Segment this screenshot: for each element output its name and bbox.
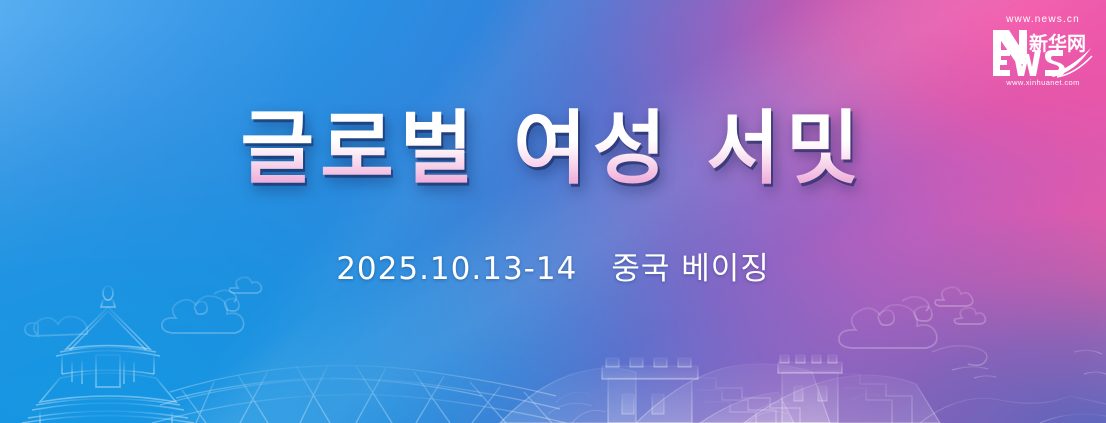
logo-top-url: www.news.cn	[991, 14, 1095, 25]
xinhua-news-logo[interactable]: www.news.cn	[991, 14, 1095, 96]
subtitle-container: 2025.10.13-14중국 베이징	[0, 243, 1106, 288]
global-womens-summit-banner: 글로벌 여성 서밋 2025.10.13-14중국 베이징 www.news.c…	[0, 0, 1106, 423]
logo-bottom-url: www.xinhuanet.com	[991, 78, 1095, 88]
event-location: 중국 베이징	[611, 243, 769, 288]
event-date: 2025.10.13-14	[336, 251, 577, 287]
logo-chinese-name-icon: 新华网	[1029, 32, 1086, 55]
logo-mark: 新华网	[991, 26, 1095, 78]
logo-mark-svg: 新华网	[991, 26, 1095, 78]
page-title: 글로벌 여성 서밋	[241, 104, 866, 194]
title-container: 글로벌 여성 서밋	[0, 104, 1106, 194]
logo-chinese-name-text: 新华网	[1029, 32, 1086, 55]
